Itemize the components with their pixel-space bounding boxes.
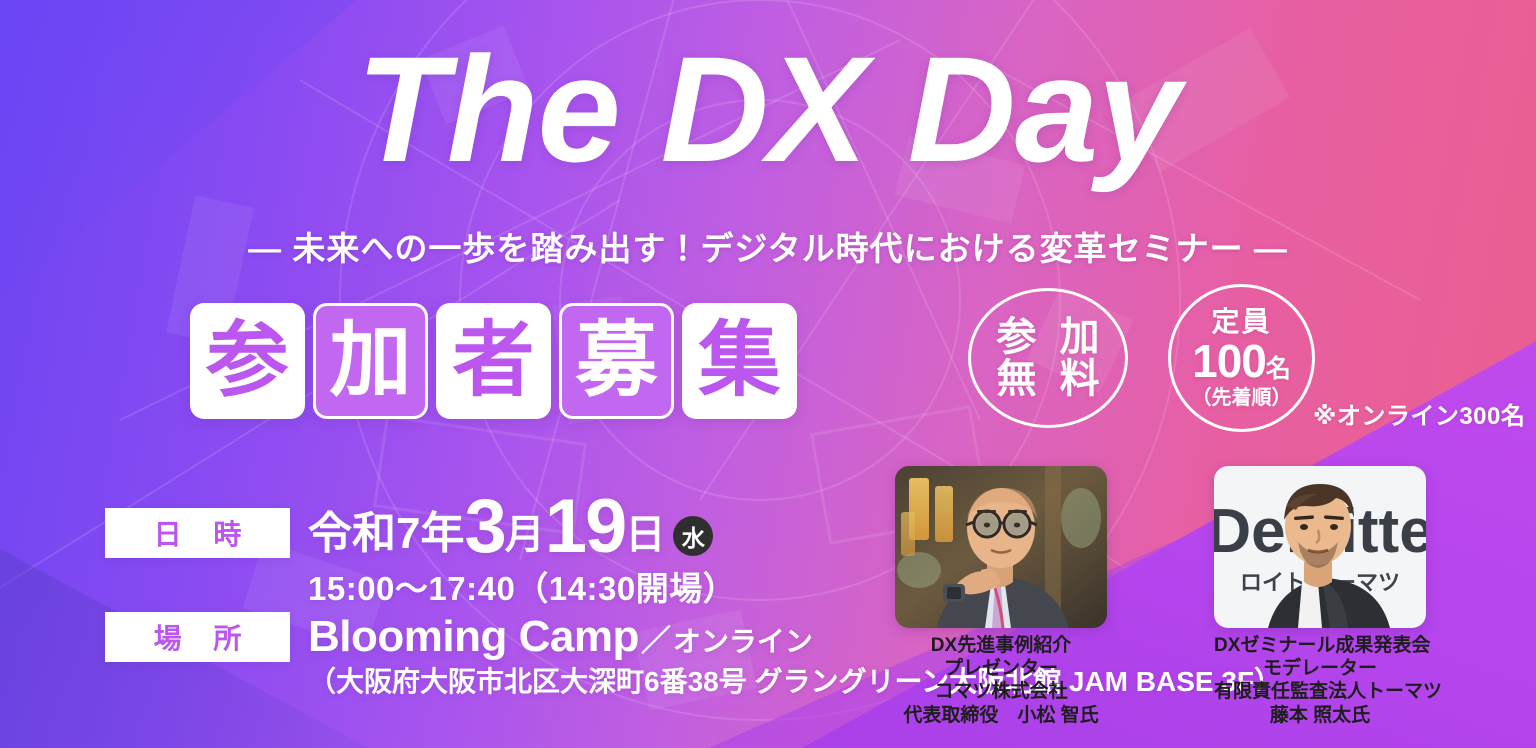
moderator-caption-line-4: 藤本 照太氏 [1214, 704, 1426, 727]
free-badge-line2: 無 料 [990, 358, 1105, 400]
weekday-badge: 水 [673, 516, 713, 556]
presenter-caption-line-4: 代表取締役 小松 智氏 [895, 704, 1107, 727]
moderator-caption-line-2: モデレーター [1214, 657, 1426, 680]
date-era: 令和7年 [308, 512, 464, 562]
free-badge-line1: 参 加 [990, 316, 1105, 358]
online-capacity-note: ※オンライン300名 [1313, 396, 1525, 431]
speaker-card-1: DX先進事例紹介 プレゼンター コマツ株式会社 代表取締役 小松 智氏 [895, 466, 1107, 727]
free-admission-badge: 参 加 無 料 [968, 288, 1128, 428]
capacity-badge: 定員 100名 （先着順） [1168, 284, 1315, 432]
moderator-photo: Deloitte ロイト トーマツ [1214, 466, 1426, 628]
date-day-unit: 日 [625, 515, 665, 562]
event-date: 令和7年 3 月 19 日 水 [308, 492, 713, 562]
capacity-number-row: 100名 [1192, 337, 1291, 386]
venue-name: Blooming Camp [308, 612, 639, 662]
event-time: 15:00〜17:40（14:30開場） [308, 562, 736, 610]
capacity-number: 100 [1192, 335, 1266, 387]
capacity-note: （先着順） [1192, 388, 1292, 409]
presenter-caption-line-1: DX先進事例紹介 [895, 634, 1107, 657]
event-subtitle: ― 未来への一歩を踏み出す！デジタル時代における変革セミナー ― [0, 222, 1536, 270]
moderator-caption-line-1: DXゼミナール成果発表会 [1214, 634, 1426, 657]
venue-address-line-1: （大阪府大阪市北区大深町6番38号 [308, 666, 747, 697]
recruit-tile-4: 募 [559, 303, 674, 419]
presenter-caption-line-3: コマツ株式会社 [895, 680, 1107, 703]
date-month-num: 3 [464, 492, 504, 562]
event-banner: The DX Day ― 未来への一歩を踏み出す！デジタル時代における変革セミナ… [0, 0, 1536, 748]
event-venue: Blooming Camp ／ オンライン [308, 612, 813, 662]
presenter-caption: DX先進事例紹介 プレゼンター コマツ株式会社 代表取締役 小松 智氏 [895, 634, 1107, 727]
presenter-caption-line-2: プレゼンター [895, 657, 1107, 680]
date-month-unit: 月 [505, 515, 545, 562]
speaker-card-2: Deloitte ロイト トーマツ [1214, 466, 1426, 727]
recruit-tile-1: 参 [190, 303, 305, 419]
venue-slash: ／ [639, 616, 673, 660]
recruit-tile-3: 者 [436, 303, 551, 419]
moderator-caption: DXゼミナール成果発表会 モデレーター 有限責任監査法人トーマツ 藤本 照太氏 [1214, 634, 1426, 727]
recruit-tile-5: 集 [682, 303, 797, 419]
recruit-tile-2: 加 [313, 303, 428, 419]
presenter-photo [895, 466, 1107, 628]
date-label-chip: 日 時 [105, 508, 290, 558]
event-title: The DX Day [0, 34, 1536, 184]
date-day-num: 19 [545, 492, 626, 562]
place-label-chip: 場 所 [105, 612, 290, 662]
venue-address: （大阪府大阪市北区大深町6番38号 グラングリーン大阪北館 JAM BASE 3… [308, 664, 1282, 700]
recruit-tiles: 参 加 者 募 集 [190, 303, 797, 419]
capacity-label: 定員 [1211, 307, 1271, 337]
capacity-unit: 名 [1266, 355, 1291, 383]
venue-mode: オンライン [673, 620, 813, 660]
moderator-caption-line-3: 有限責任監査法人トーマツ [1214, 680, 1426, 703]
